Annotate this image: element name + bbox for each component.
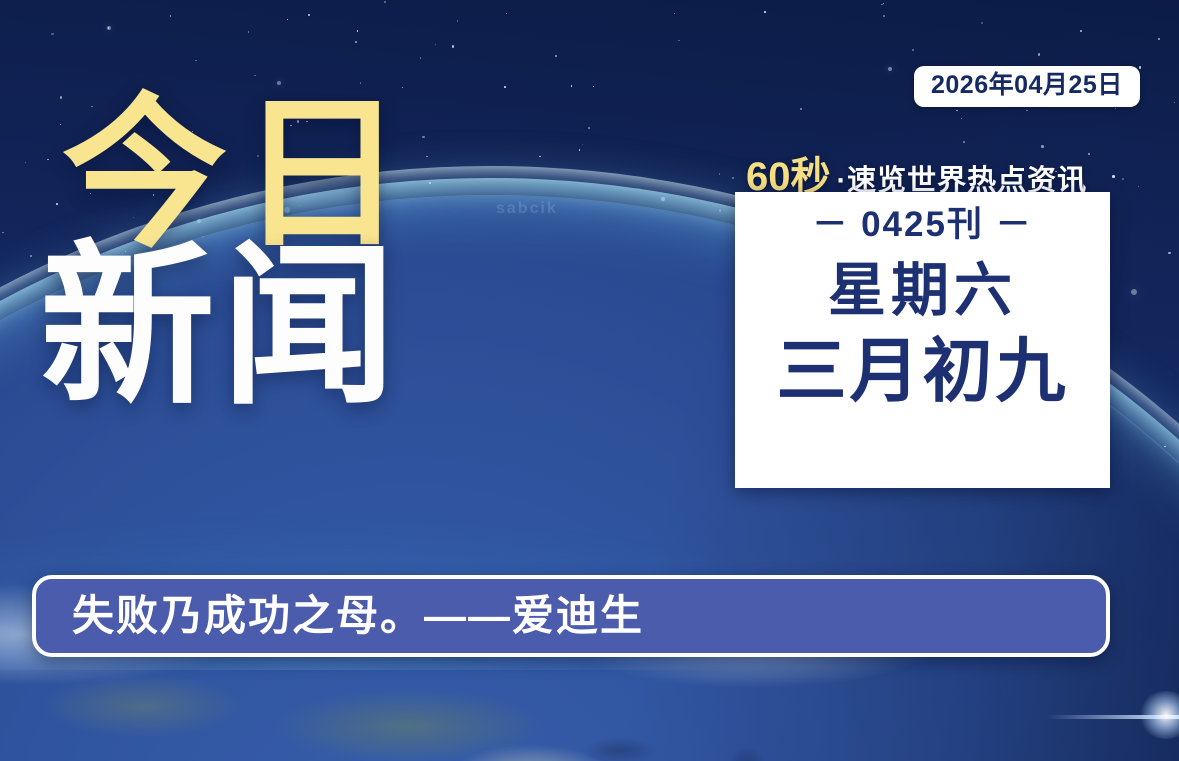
poster-title: 今日 新闻	[62, 96, 416, 411]
issue-number: － 0425刊 －	[812, 206, 1032, 245]
date-badge: 2026年04月25日	[914, 66, 1140, 107]
lunar-date-label: 三月初九	[777, 335, 1069, 409]
page-title-line2: 新闻	[40, 245, 416, 411]
news-poster: sabcik 2026年04月25日 60秒 ·速览世界热点资讯 今日 新闻 －…	[0, 0, 1179, 761]
weekday-label: 星期六	[828, 261, 1017, 322]
background-watermark: sabcik	[496, 200, 558, 218]
quote-text: 失败乃成功之母。——爱迪生	[72, 595, 644, 637]
quote-bar: 失败乃成功之母。——爱迪生	[32, 575, 1110, 657]
issue-info-card: － 0425刊 － 星期六 三月初九	[735, 192, 1110, 488]
